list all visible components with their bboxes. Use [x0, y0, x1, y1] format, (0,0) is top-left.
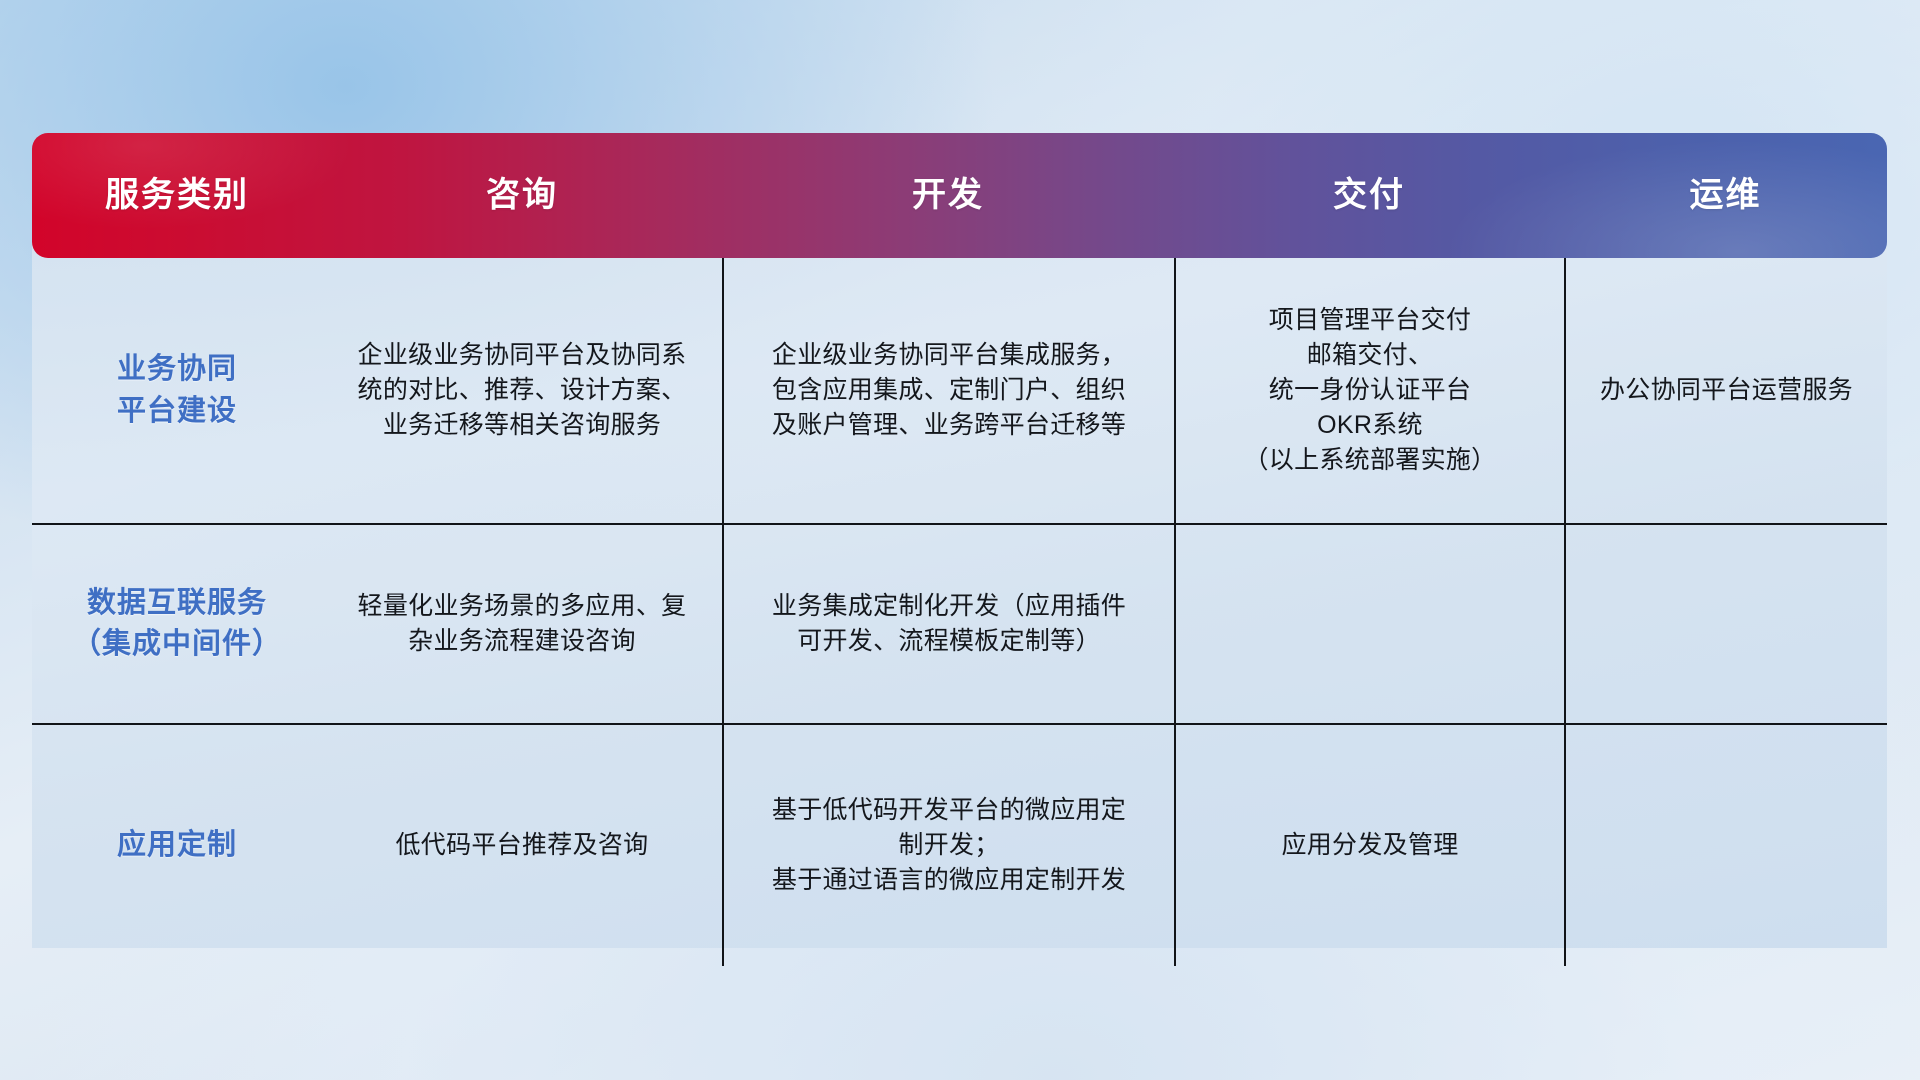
category-label: 业务协同 平台建设	[46, 349, 308, 431]
cell-text: 项目管理平台交付 邮箱交付、 统一身份认证平台 OKR系统 （以上系统部署实施）	[1190, 303, 1550, 478]
column-header-operations: 运维	[1564, 133, 1887, 258]
cell-category-row1: 业务协同 平台建设	[32, 258, 322, 523]
cell-text: 企业级业务协同平台集成服务， 包含应用集成、定制门户、组织 及账户管理、业务跨平…	[738, 338, 1160, 443]
cell-text: 低代码平台推荐及咨询	[336, 828, 708, 863]
cell-consulting-row3: 低代码平台推荐及咨询	[322, 725, 722, 966]
cell-text: 轻量化业务场景的多应用、复 杂业务流程建设咨询	[336, 589, 708, 659]
table-header-row: 服务类别 咨询 开发 交付 运维	[32, 133, 1887, 258]
cell-development-row2: 业务集成定制化开发（应用插件 可开发、流程模板定制等）	[722, 525, 1174, 723]
table-row: 业务协同 平台建设 企业级业务协同平台及协同系 统的对比、推荐、设计方案、 业务…	[32, 258, 1887, 523]
service-matrix-table: 服务类别 咨询 开发 交付 运维 业务协同 平台建设 企业级业务协同平台及协同系…	[32, 133, 1887, 948]
column-header-service-category: 服务类别	[32, 133, 322, 258]
category-label: 应用定制	[46, 825, 308, 866]
table-row: 应用定制 低代码平台推荐及咨询 基于低代码开发平台的微应用定 制开发； 基于通过…	[32, 723, 1887, 966]
category-label: 数据互联服务 （集成中间件）	[46, 583, 308, 665]
cell-development-row3: 基于低代码开发平台的微应用定 制开发； 基于通过语言的微应用定制开发	[722, 725, 1174, 966]
cell-development-row1: 企业级业务协同平台集成服务， 包含应用集成、定制门户、组织 及账户管理、业务跨平…	[722, 258, 1174, 523]
cell-delivery-row2	[1174, 525, 1564, 723]
column-header-development: 开发	[722, 133, 1174, 258]
column-header-consulting: 咨询	[322, 133, 722, 258]
cell-text: 应用分发及管理	[1190, 828, 1550, 863]
table-body: 业务协同 平台建设 企业级业务协同平台及协同系 统的对比、推荐、设计方案、 业务…	[32, 258, 1887, 966]
table-row: 数据互联服务 （集成中间件） 轻量化业务场景的多应用、复 杂业务流程建设咨询 业…	[32, 523, 1887, 723]
cell-category-row3: 应用定制	[32, 725, 322, 966]
cell-text: 企业级业务协同平台及协同系 统的对比、推荐、设计方案、 业务迁移等相关咨询服务	[336, 338, 708, 443]
cell-operations-row2	[1564, 525, 1887, 723]
slide-canvas: 服务类别 咨询 开发 交付 运维 业务协同 平台建设 企业级业务协同平台及协同系…	[0, 0, 1920, 1080]
cell-category-row2: 数据互联服务 （集成中间件）	[32, 525, 322, 723]
cell-consulting-row2: 轻量化业务场景的多应用、复 杂业务流程建设咨询	[322, 525, 722, 723]
cell-consulting-row1: 企业级业务协同平台及协同系 统的对比、推荐、设计方案、 业务迁移等相关咨询服务	[322, 258, 722, 523]
cell-operations-row1: 办公协同平台运营服务	[1564, 258, 1887, 523]
cell-text: 业务集成定制化开发（应用插件 可开发、流程模板定制等）	[738, 589, 1160, 659]
cell-delivery-row3: 应用分发及管理	[1174, 725, 1564, 966]
column-header-delivery: 交付	[1174, 133, 1564, 258]
cell-text: 基于低代码开发平台的微应用定 制开发； 基于通过语言的微应用定制开发	[738, 793, 1160, 898]
cell-text: 办公协同平台运营服务	[1580, 373, 1873, 408]
cell-delivery-row1: 项目管理平台交付 邮箱交付、 统一身份认证平台 OKR系统 （以上系统部署实施）	[1174, 258, 1564, 523]
cell-operations-row3	[1564, 725, 1887, 966]
